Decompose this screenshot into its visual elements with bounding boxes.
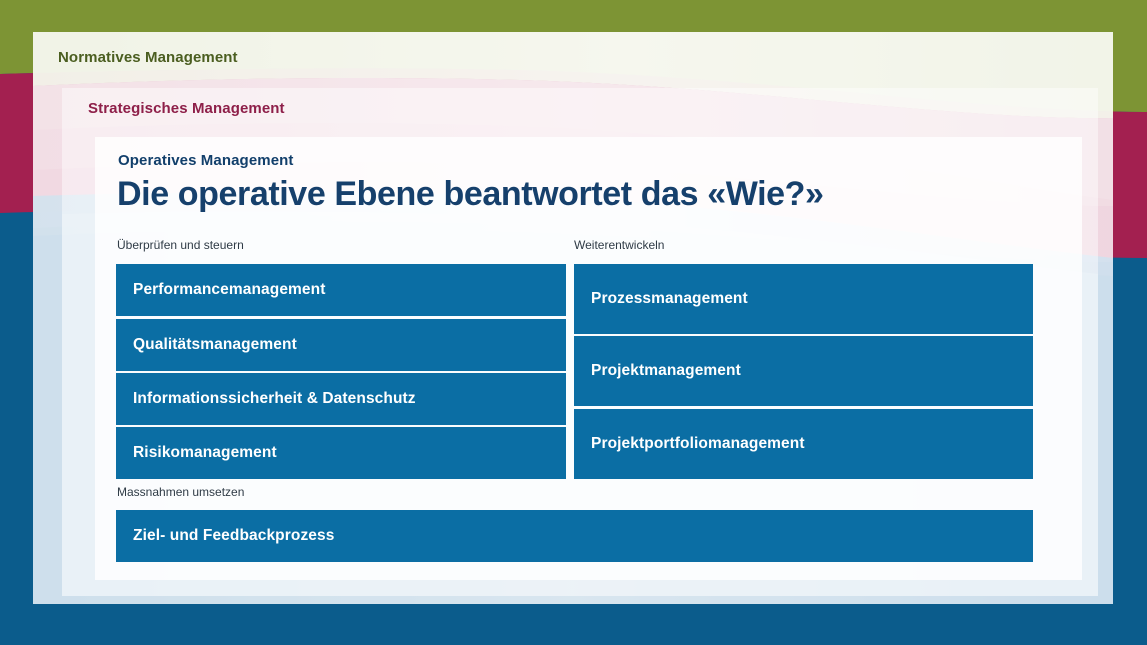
tile-risikomanagement[interactable]: Risikomanagement [116, 427, 566, 479]
tile-projektportfoliomanagement[interactable]: Projektportfoliomanagement [574, 409, 1033, 479]
tile-ziel-und-feedbackprozess[interactable]: Ziel- und Feedbackprozess [116, 510, 1033, 562]
level-label-strategic: Strategisches Management [88, 100, 285, 117]
tile-prozessmanagement[interactable]: Prozessmanagement [574, 264, 1033, 334]
level-label-normative: Normatives Management [58, 49, 238, 66]
tile-informationssicherheit-datenschutz[interactable]: Informationssicherheit & Datenschutz [116, 373, 566, 425]
page-title: Die operative Ebene beantwortet das «Wie… [117, 175, 824, 214]
tile-qualitaetsmanagement[interactable]: Qualitätsmanagement [116, 319, 566, 371]
group-caption-pruefen-steuern: Überprüfen und steuern [117, 238, 244, 252]
group-caption-massnahmen-umsetzen: Massnahmen umsetzen [117, 485, 244, 499]
group-caption-weiterentwickeln: Weiterentwickeln [574, 238, 664, 252]
slide-canvas: Normatives Management Strategisches Mana… [0, 0, 1147, 645]
tile-performancemanagement[interactable]: Performancemanagement [116, 264, 566, 316]
level-label-operative: Operatives Management [118, 152, 294, 169]
tile-projektmanagement[interactable]: Projektmanagement [574, 336, 1033, 406]
